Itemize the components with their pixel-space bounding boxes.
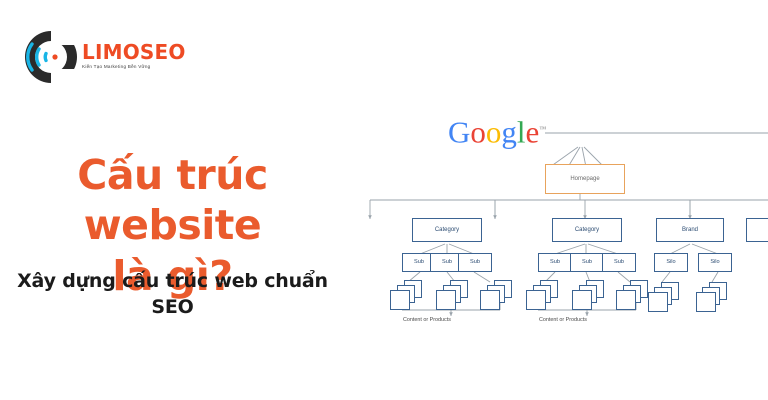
brand-logo-text: LIMOSEO Kiến Tạo Marketing Bền Vững	[82, 42, 186, 70]
slide-canvas: LIMOSEO Kiến Tạo Marketing Bền Vững Cấu …	[0, 0, 768, 400]
google-letter-g1: G	[448, 114, 470, 149]
node-sub-2b-label: Sub	[582, 260, 592, 266]
node-silo-1-label: Silo	[666, 260, 675, 266]
node-sub-1b-label: Sub	[442, 260, 452, 266]
website-structure-diagram: Google™ Sitemap html & xml Robots.txt Ho…	[340, 92, 768, 324]
node-category-1-label: Category	[435, 227, 459, 233]
node-sub-1a-label: Sub	[414, 260, 424, 266]
node-sub-2a-label: Sub	[550, 260, 560, 266]
node-category-2-label: Category	[575, 227, 599, 233]
node-homepage-label: Homepage	[570, 176, 599, 182]
google-trademark: ™	[539, 125, 546, 133]
node-articles: Articles	[746, 218, 768, 242]
headline-line-1: Cấu trúc website	[0, 150, 345, 250]
limoseo-wifi-c-logo-icon	[22, 28, 80, 86]
google-letter-o1: o	[470, 114, 486, 149]
google-letter-g2: g	[501, 114, 517, 149]
node-sub-2c-label: Sub	[614, 260, 624, 266]
brand-name: LIMOSEO	[82, 42, 186, 62]
brand-tagline: Kiến Tạo Marketing Bền Vững	[82, 63, 186, 70]
content-label-2: Content or Products	[539, 317, 587, 323]
node-sub-1c: Sub	[458, 253, 492, 272]
node-category-2: Category	[552, 218, 622, 242]
content-label-1: Content or Products	[403, 317, 451, 323]
brand-logo: LIMOSEO Kiến Tạo Marketing Bền Vững	[22, 28, 172, 86]
node-brand-label: Brand	[682, 227, 698, 233]
node-sub-2b: Sub	[570, 253, 604, 272]
node-sub-2a: Sub	[538, 253, 572, 272]
google-letter-l: l	[517, 114, 526, 149]
node-silo-2-label: Silo	[710, 260, 719, 266]
page-subtitle: Xây dựng cấu trúc web chuẩn SEO	[0, 268, 345, 320]
node-silo-1: Silo	[654, 253, 688, 272]
google-logo: Google™	[448, 114, 546, 147]
node-silo-2: Silo	[698, 253, 732, 272]
node-category-1: Category	[412, 218, 482, 242]
node-homepage: Homepage	[545, 164, 625, 194]
node-sub-1c-label: Sub	[470, 260, 480, 266]
node-brand: Brand	[656, 218, 724, 242]
google-letter-e: e	[526, 114, 540, 149]
google-letter-o2: o	[486, 114, 502, 149]
node-sub-2c: Sub	[602, 253, 636, 272]
